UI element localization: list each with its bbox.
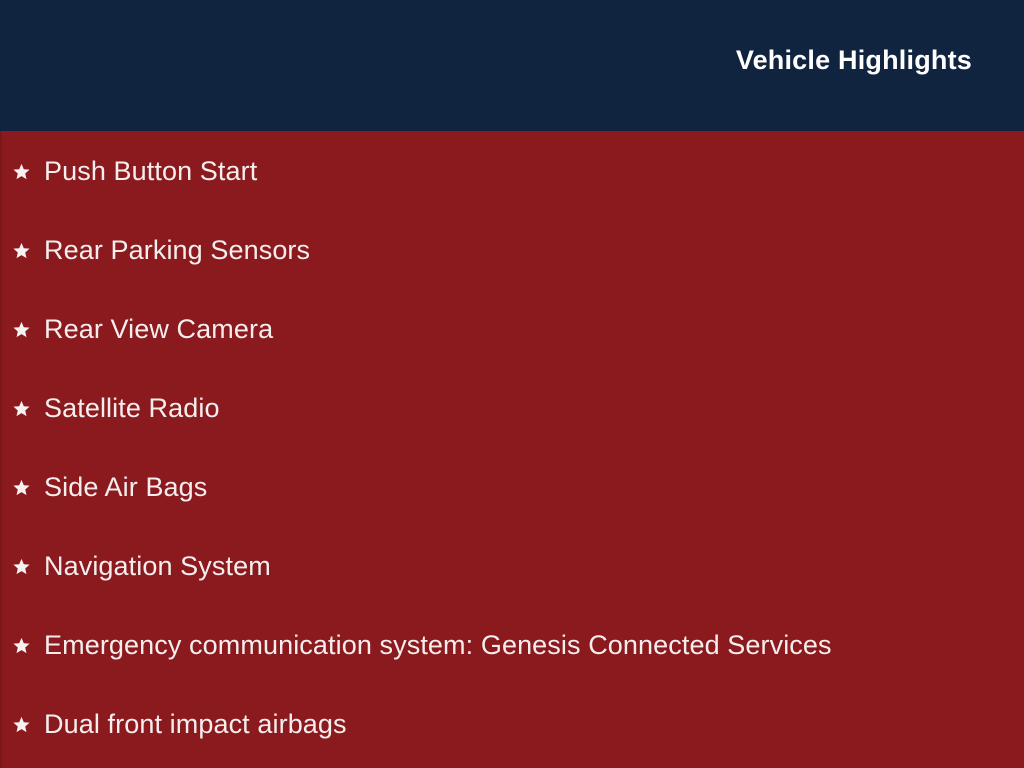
star-icon bbox=[12, 478, 31, 497]
list-item: Navigation System bbox=[12, 549, 271, 583]
page-title: Vehicle Highlights bbox=[736, 47, 972, 74]
list-item: Satellite Radio bbox=[12, 391, 220, 425]
star-icon bbox=[12, 715, 31, 734]
star-icon bbox=[12, 241, 31, 260]
list-item-label: Satellite Radio bbox=[44, 391, 220, 425]
list-item: Dual front impact airbags bbox=[12, 707, 347, 741]
vehicle-highlights-slide: Vehicle Highlights Push Button StartRear… bbox=[0, 0, 1024, 768]
star-icon bbox=[12, 399, 31, 418]
list-item: Side Air Bags bbox=[12, 470, 207, 504]
left-edge-shadow bbox=[0, 131, 3, 768]
list-item-label: Navigation System bbox=[44, 549, 271, 583]
list-item: Rear View Camera bbox=[12, 312, 273, 346]
list-item-label: Push Button Start bbox=[44, 154, 257, 188]
list-item: Emergency communication system: Genesis … bbox=[12, 628, 832, 662]
list-item: Push Button Start bbox=[12, 154, 257, 188]
list-item: Rear Parking Sensors bbox=[12, 233, 310, 267]
star-icon bbox=[12, 320, 31, 339]
list-item-label: Rear View Camera bbox=[44, 312, 273, 346]
star-icon bbox=[12, 636, 31, 655]
list-item-label: Side Air Bags bbox=[44, 470, 207, 504]
list-item-label: Rear Parking Sensors bbox=[44, 233, 310, 267]
slide-header: Vehicle Highlights bbox=[0, 0, 1024, 131]
star-icon bbox=[12, 162, 31, 181]
slide-body: Push Button StartRear Parking SensorsRea… bbox=[0, 131, 1024, 768]
star-icon bbox=[12, 557, 31, 576]
list-item-label: Dual front impact airbags bbox=[44, 707, 347, 741]
list-item-label: Emergency communication system: Genesis … bbox=[44, 628, 832, 662]
